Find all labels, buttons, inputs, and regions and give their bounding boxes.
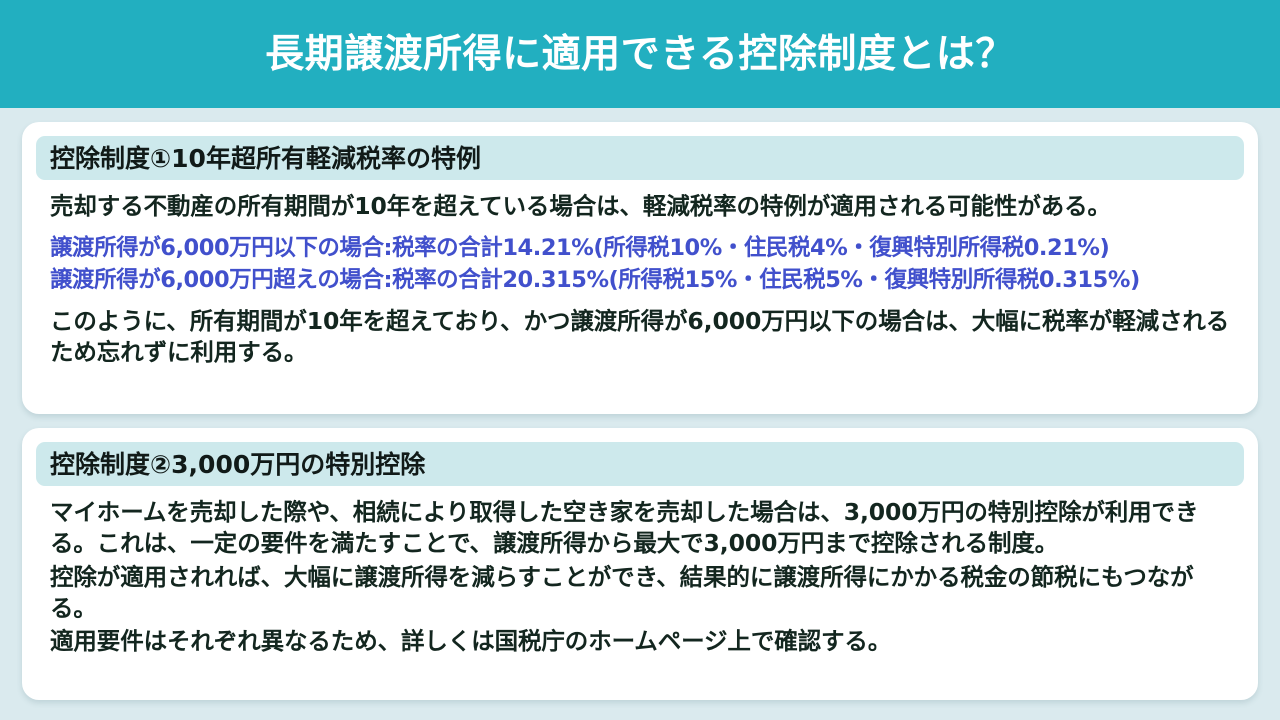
card-2-body: マイホームを売却した際や、相続により取得した空き家を売却した場合は、3,000万… [22, 486, 1258, 657]
card-1-body: 売却する不動産の所有期間が10年を超えている場合は、軽減税率の特例が適用される可… [22, 180, 1258, 369]
card-1-highlight-group: 譲渡所得が6,000万円以下の場合:税率の合計14.21%(所得税10%・住民税… [50, 233, 1232, 297]
card-1-paragraph-1: 売却する不動産の所有期間が10年を超えている場合は、軽減税率の特例が適用される可… [50, 191, 1232, 222]
page-title: 長期譲渡所得に適用できる控除制度とは？ [265, 35, 1015, 74]
card-1-highlight-line-1: 譲渡所得が6,000万円以下の場合:税率の合計14.21%(所得税10%・住民税… [50, 233, 1232, 265]
card-1-header: 控除制度①10年超所有軽減税率の特例 [36, 136, 1244, 180]
card-2-header: 控除制度②3,000万円の特別控除 [36, 442, 1244, 486]
card-2-paragraph-1: マイホームを売却した際や、相続により取得した空き家を売却した場合は、3,000万… [50, 497, 1232, 560]
card-2-paragraph-3: 適用要件はそれぞれ異なるため、詳しくは国税庁のホームページ上で確認する。 [50, 626, 1232, 657]
card-2-heading: 控除制度②3,000万円の特別控除 [50, 452, 425, 477]
card-1-closing-paragraph: このように、所有期間が10年を超えており、かつ譲渡所得が6,000万円以下の場合… [50, 306, 1232, 369]
slide-root: 長期譲渡所得に適用できる控除制度とは？ 控除制度①10年超所有軽減税率の特例 売… [0, 0, 1280, 720]
card-2-paragraph-2: 控除が適用されれば、大幅に譲渡所得を減らすことができ、結果的に譲渡所得にかかる税… [50, 562, 1232, 625]
slide-header: 長期譲渡所得に適用できる控除制度とは？ [0, 0, 1280, 108]
card-1-heading: 控除制度①10年超所有軽減税率の特例 [50, 146, 481, 171]
deduction-card-2: 控除制度②3,000万円の特別控除 マイホームを売却した際や、相続により取得した… [22, 428, 1258, 700]
deduction-card-1: 控除制度①10年超所有軽減税率の特例 売却する不動産の所有期間が10年を超えてい… [22, 122, 1258, 414]
card-1-highlight-line-2: 譲渡所得が6,000万円超えの場合:税率の合計20.315%(所得税15%・住民… [50, 265, 1232, 297]
